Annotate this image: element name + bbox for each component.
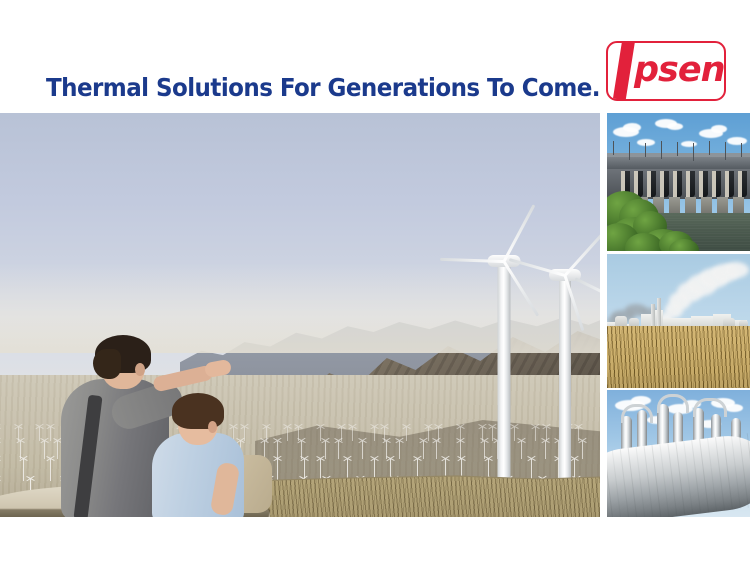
ipsen-logo[interactable]: psen (606, 41, 726, 101)
page-title: Thermal Solutions For Generations To Com… (46, 73, 600, 102)
boy-figure (150, 391, 260, 517)
poster-page: Thermal Solutions For Generations To Com… (0, 0, 750, 579)
logo-i-bar-icon (611, 41, 636, 101)
boy-ear (208, 421, 217, 433)
man-ear (135, 363, 145, 376)
thumbnail-gas-pipeline (607, 390, 750, 517)
thumbnail-hydroelectric-dam (607, 113, 750, 251)
hero-image (0, 113, 600, 517)
thumbnail-biofuel-plant (607, 254, 750, 388)
logo-wordmark: psen (634, 49, 725, 91)
man-hair-side (93, 349, 121, 379)
footer-band: Made in America for the world. (0, 517, 750, 579)
wind-turbine-3 (560, 285, 600, 499)
corn-field-texture (607, 326, 750, 388)
thumbnail-strip (607, 113, 750, 517)
